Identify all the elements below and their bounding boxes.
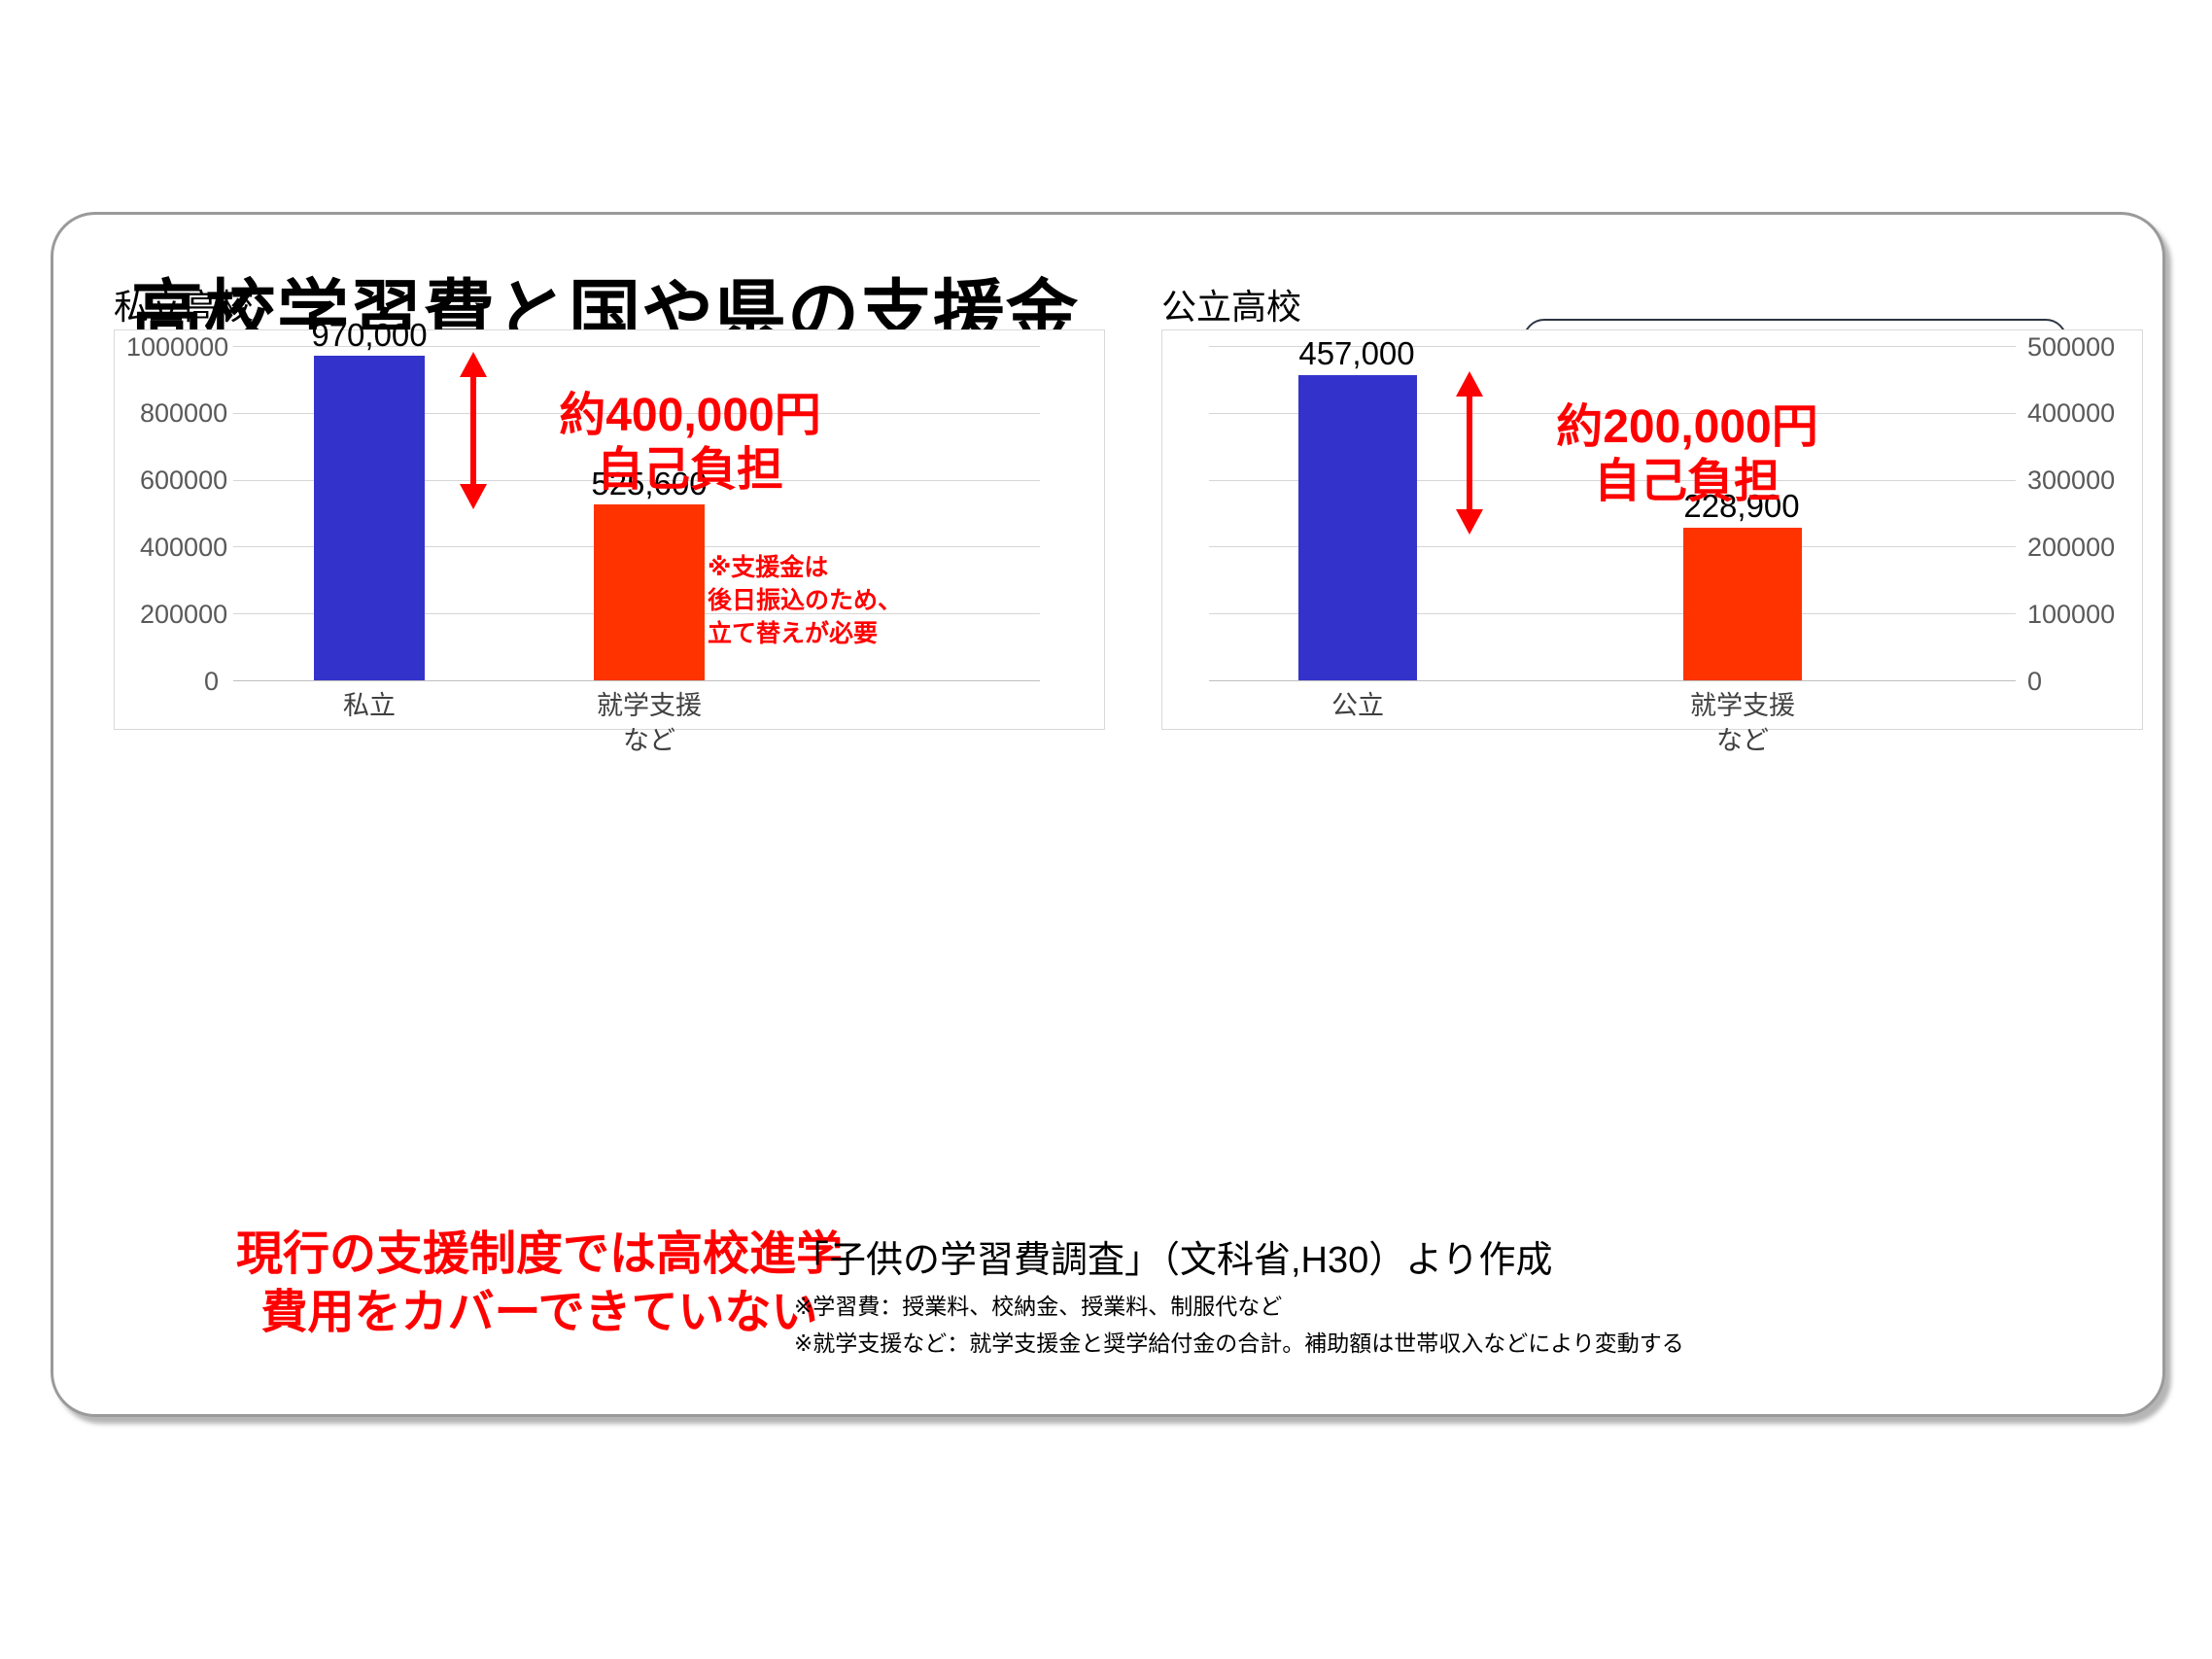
note-line-2: 後日振込のため、 <box>708 584 902 617</box>
y-tick-label: 0 <box>204 667 219 697</box>
y-tick-label: 800000 <box>140 398 227 429</box>
note-line-3: 立て替えが必要 <box>708 617 902 650</box>
source-citation: 「子供の学習費調査」（文科省,H30）より作成 <box>792 1229 1553 1283</box>
annotation-line-1: 約400,000円 <box>476 389 904 443</box>
y-tick-label: 500000 <box>2027 332 2115 363</box>
category-label-line: 就学支援 <box>571 688 727 723</box>
right-chart-panel: 500000 400000 300000 200000 100000 0 457… <box>1161 329 2143 730</box>
category-label-line: 公立 <box>1280 688 1435 723</box>
source-note-2: ※就学支援など：就学支援金と奨学給付金の合計。補助額は世帯収入などにより変動する <box>794 1325 1684 1358</box>
category-label: 就学支援 など <box>1665 688 1820 758</box>
category-label: 就学支援 など <box>571 688 727 758</box>
gridline <box>1209 680 2016 681</box>
bar-value-label: 970,000 <box>282 317 457 354</box>
annotation-line-2: 自己負担 <box>476 443 904 498</box>
right-chart-annotation: 約200,000円 自己負担 <box>1473 400 1901 508</box>
category-label-line: 就学支援 <box>1665 688 1820 723</box>
annotation-line-2: 自己負担 <box>1473 455 1901 509</box>
y-tick-label: 400000 <box>2027 398 2115 429</box>
left-chart-caption: 私立高校 <box>114 279 254 329</box>
bar-shugaku-shien <box>594 504 705 680</box>
bar-shugaku-shien <box>1683 528 1802 681</box>
source-note-1: ※学習費：授業料、校納金、授業料、制服代など <box>794 1288 1282 1321</box>
gridline <box>233 680 1040 681</box>
bar-shiritsu <box>314 356 425 680</box>
y-tick-label: 200000 <box>140 600 227 630</box>
left-chart-note: ※支援金は 後日振込のため、 立て替えが必要 <box>708 551 902 650</box>
y-tick-label: 300000 <box>2027 466 2115 496</box>
bar-value-label: 457,000 <box>1269 335 1444 372</box>
y-tick-label: 400000 <box>140 533 227 563</box>
y-tick-label: 0 <box>2027 667 2042 697</box>
y-tick-label: 1000000 <box>126 332 228 363</box>
left-chart-annotation: 約400,000円 自己負担 <box>476 389 904 497</box>
left-chart-panel: 1000000 800000 600000 400000 200000 0 97… <box>114 329 1105 730</box>
right-chart-caption: 公立高校 <box>1161 279 1301 329</box>
y-tick-label: 600000 <box>140 466 227 496</box>
y-tick-label: 100000 <box>2027 600 2115 630</box>
category-label: 公立 <box>1280 688 1435 723</box>
category-label: 私立 <box>292 688 447 723</box>
bar-kouritsu <box>1298 375 1417 680</box>
y-tick-label: 200000 <box>2027 533 2115 563</box>
category-label-line: 私立 <box>292 688 447 723</box>
category-label-line: など <box>1665 723 1820 758</box>
note-line-1: ※支援金は <box>708 551 902 584</box>
annotation-line-1: 約200,000円 <box>1473 400 1901 455</box>
slide-frame: 高校学習費と国や県の支援金 制服は中古で。部活は入らないで アルバイトで学費を稼… <box>51 212 2165 1417</box>
category-label-line: など <box>571 723 727 758</box>
